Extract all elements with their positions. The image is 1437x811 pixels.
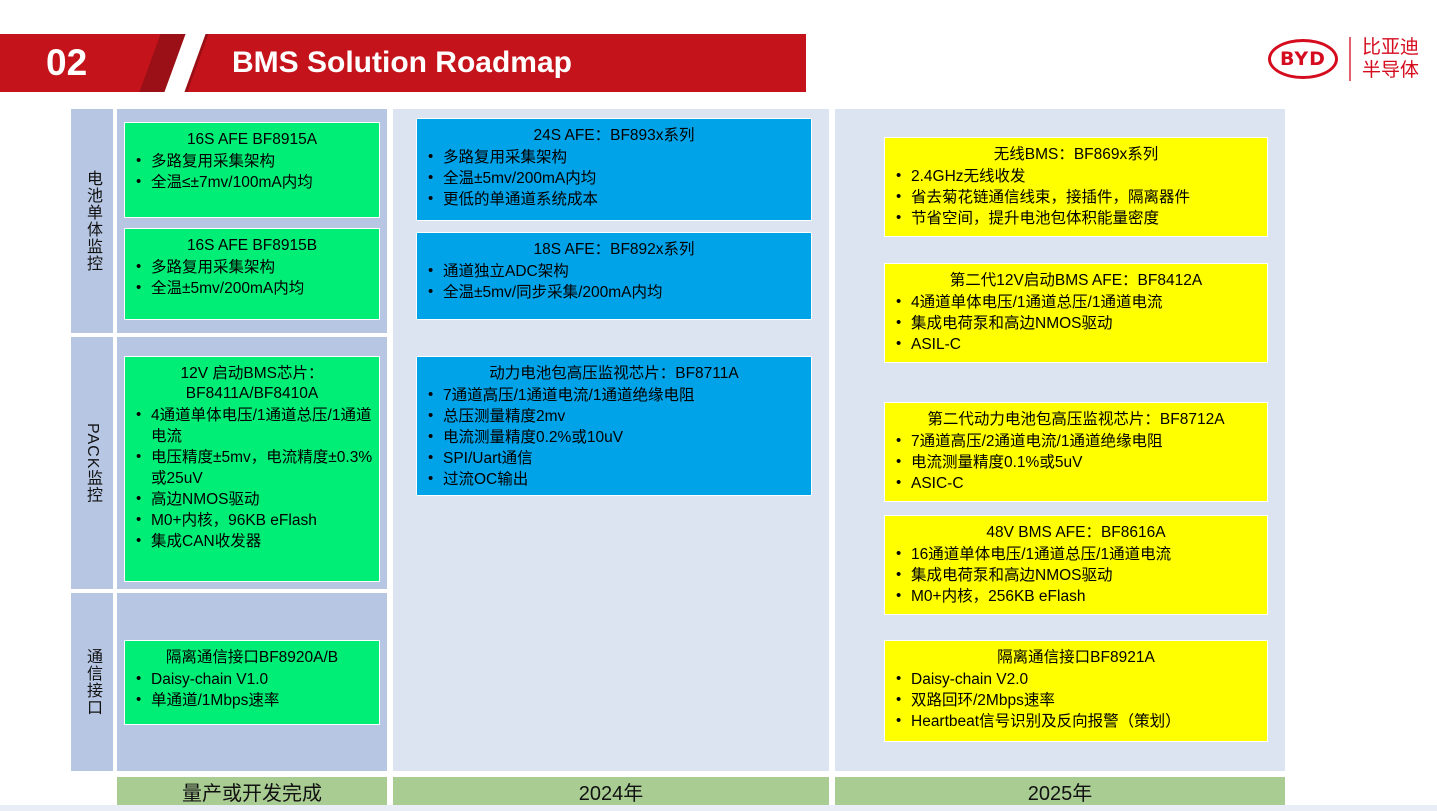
card-bf8616a-title: 48V BMS AFE：BF8616A bbox=[891, 521, 1261, 544]
list-item: ASIL-C bbox=[891, 334, 1261, 355]
card-bf892x-title: 18S AFE：BF892x系列 bbox=[423, 238, 805, 261]
brand-logo: BYD 比亚迪 半导体 bbox=[1268, 36, 1419, 82]
list-item: Daisy-chain V1.0 bbox=[131, 669, 373, 690]
card-bf893x-title: 24S AFE：BF893x系列 bbox=[423, 124, 805, 147]
list-item: 16通道单体电压/1通道总压/1通道电流 bbox=[891, 544, 1261, 565]
card-bf892x-bullets: 通道独立ADC架构 全温±5mv/同步采集/200mA内均 bbox=[423, 261, 805, 303]
list-item: 4通道单体电压/1通道总压/1通道电流 bbox=[891, 292, 1261, 313]
list-item: Daisy-chain V2.0 bbox=[891, 669, 1261, 690]
card-bf892x[interactable]: 18S AFE：BF892x系列 通道独立ADC架构 全温±5mv/同步采集/2… bbox=[416, 232, 812, 320]
list-item: 通道独立ADC架构 bbox=[423, 261, 805, 282]
list-item: 7通道高压/1通道电流/1通道绝缘电阻 bbox=[423, 385, 805, 406]
card-bf8915a[interactable]: 16S AFE BF8915A 多路复用采集架构 全温≤±7mv/100mA内均 bbox=[124, 122, 380, 218]
list-item: ASIC-C bbox=[891, 473, 1261, 494]
page-title: BMS Solution Roadmap bbox=[232, 34, 572, 92]
timeline-mass-production: 量产或开发完成 bbox=[116, 776, 388, 807]
card-bf8616a[interactable]: 48V BMS AFE：BF8616A 16通道单体电压/1通道总压/1通道电流… bbox=[884, 515, 1268, 615]
card-bf869x[interactable]: 无线BMS：BF869x系列 2.4GHz无线收发 省去菊花链通信线束，接插件，… bbox=[884, 137, 1268, 237]
list-item: M0+内核，256KB eFlash bbox=[891, 586, 1261, 607]
card-bf8915b[interactable]: 16S AFE BF8915B 多路复用采集架构 全温±5mv/200mA内均 bbox=[124, 228, 380, 320]
list-item: 省去菊花链通信线束，接插件，隔离器件 bbox=[891, 187, 1261, 208]
row-label-comm-interface-text: 通信接口 bbox=[80, 648, 104, 716]
card-bf8412a-bullets: 4通道单体电压/1通道总压/1通道电流 集成电荷泵和高边NMOS驱动 ASIL-… bbox=[891, 292, 1261, 355]
card-bf8712a-title: 第二代动力电池包高压监视芯片：BF8712A bbox=[891, 408, 1261, 431]
card-bf8920ab[interactable]: 隔离通信接口BF8920A/B Daisy-chain V1.0 单通道/1Mb… bbox=[124, 640, 380, 725]
brand-name-line1: 比亚迪 bbox=[1362, 36, 1419, 59]
timeline-2024: 2024年 bbox=[392, 776, 830, 807]
brand-divider bbox=[1349, 37, 1351, 81]
list-item: 4通道单体电压/1通道总压/1通道电流 bbox=[131, 405, 373, 447]
card-bf8921a-title: 隔离通信接口BF8921A bbox=[891, 646, 1261, 669]
list-item: 集成电荷泵和高边NMOS驱动 bbox=[891, 313, 1261, 334]
timeline-2025-label: 2025年 bbox=[1028, 777, 1093, 806]
slide-header: 02 BMS Solution Roadmap bbox=[0, 34, 806, 92]
list-item: 节省空间，提升电池包体积能量密度 bbox=[891, 208, 1261, 229]
card-bf8711a-title: 动力电池包高压监视芯片：BF8711A bbox=[423, 362, 805, 385]
card-bf8915b-bullets: 多路复用采集架构 全温±5mv/200mA内均 bbox=[131, 257, 373, 299]
card-bf8915a-bullets: 多路复用采集架构 全温≤±7mv/100mA内均 bbox=[131, 151, 373, 193]
list-item: 电流测量精度0.2%或10uV bbox=[423, 427, 805, 448]
row-label-pack-monitoring: PACK监控 bbox=[70, 336, 114, 590]
card-bf869x-bullets: 2.4GHz无线收发 省去菊花链通信线束，接插件，隔离器件 节省空间，提升电池包… bbox=[891, 166, 1261, 229]
card-bf869x-title: 无线BMS：BF869x系列 bbox=[891, 143, 1261, 166]
card-bf8411a-bf8410a[interactable]: 12V 启动BMS芯片： BF8411A/BF8410A 4通道单体电压/1通道… bbox=[124, 356, 380, 582]
list-item: 过流OC输出 bbox=[423, 469, 805, 490]
list-item: 多路复用采集架构 bbox=[423, 147, 805, 168]
list-item: 电流测量精度0.1%或5uV bbox=[891, 452, 1261, 473]
byd-oval-logo-icon: BYD bbox=[1268, 39, 1338, 79]
card-bf8711a[interactable]: 动力电池包高压监视芯片：BF8711A 7通道高压/1通道电流/1通道绝缘电阻 … bbox=[416, 356, 812, 496]
card-bf8915a-title: 16S AFE BF8915A bbox=[131, 128, 373, 151]
card-bf8920ab-bullets: Daisy-chain V1.0 单通道/1Mbps速率 bbox=[131, 669, 373, 711]
row-label-comm-interface: 通信接口 bbox=[70, 592, 114, 772]
row-label-cell-monitoring-text: 电池单体监控 bbox=[80, 170, 104, 272]
list-item: 集成电荷泵和高边NMOS驱动 bbox=[891, 565, 1261, 586]
card-bf8920ab-title: 隔离通信接口BF8920A/B bbox=[131, 646, 373, 669]
timeline-2024-label: 2024年 bbox=[579, 777, 644, 806]
brand-name-line2: 半导体 bbox=[1362, 59, 1419, 82]
list-item: 更低的单通道系统成本 bbox=[423, 189, 805, 210]
card-bf8412a[interactable]: 第二代12V启动BMS AFE：BF8412A 4通道单体电压/1通道总压/1通… bbox=[884, 263, 1268, 363]
card-bf893x[interactable]: 24S AFE：BF893x系列 多路复用采集架构 全温±5mv/200mA内均… bbox=[416, 118, 812, 221]
card-bf8921a-bullets: Daisy-chain V2.0 双路回环/2Mbps速率 Heartbeat信… bbox=[891, 669, 1261, 732]
list-item: 单通道/1Mbps速率 bbox=[131, 690, 373, 711]
list-item: 全温±5mv/同步采集/200mA内均 bbox=[423, 282, 805, 303]
card-bf8616a-bullets: 16通道单体电压/1通道总压/1通道电流 集成电荷泵和高边NMOS驱动 M0+内… bbox=[891, 544, 1261, 607]
list-item: SPI/Uart通信 bbox=[423, 448, 805, 469]
list-item: 7通道高压/2通道电流/1通道绝缘电阻 bbox=[891, 431, 1261, 452]
timeline-2025: 2025年 bbox=[834, 776, 1286, 807]
list-item: 多路复用采集架构 bbox=[131, 257, 373, 278]
slide-root: 02 BMS Solution Roadmap BYD 比亚迪 半导体 电池单体… bbox=[0, 0, 1437, 811]
list-item: 双路回环/2Mbps速率 bbox=[891, 690, 1261, 711]
card-bf893x-bullets: 多路复用采集架构 全温±5mv/200mA内均 更低的单通道系统成本 bbox=[423, 147, 805, 210]
card-bf8712a[interactable]: 第二代动力电池包高压监视芯片：BF8712A 7通道高压/2通道电流/1通道绝缘… bbox=[884, 402, 1268, 502]
list-item: 高边NMOS驱动 bbox=[131, 489, 373, 510]
section-number: 02 bbox=[46, 34, 87, 92]
card-bf8412a-title: 第二代12V启动BMS AFE：BF8412A bbox=[891, 269, 1261, 292]
list-item: 2.4GHz无线收发 bbox=[891, 166, 1261, 187]
list-item: M0+内核，96KB eFlash bbox=[131, 510, 373, 531]
row-label-pack-monitoring-text: PACK监控 bbox=[80, 423, 104, 503]
card-bf8411a-bf8410a-bullets: 4通道单体电压/1通道总压/1通道电流 电压精度±5mv，电流精度±0.3%或2… bbox=[131, 405, 373, 552]
card-bf8712a-bullets: 7通道高压/2通道电流/1通道绝缘电阻 电流测量精度0.1%或5uV ASIC-… bbox=[891, 431, 1261, 494]
list-item: 全温≤±7mv/100mA内均 bbox=[131, 172, 373, 193]
byd-logo-text: BYD bbox=[1280, 48, 1326, 70]
list-item: 全温±5mv/200mA内均 bbox=[131, 278, 373, 299]
list-item: 多路复用采集架构 bbox=[131, 151, 373, 172]
list-item: 集成CAN收发器 bbox=[131, 531, 373, 552]
brand-name: 比亚迪 半导体 bbox=[1362, 36, 1419, 82]
list-item: 电压精度±5mv，电流精度±0.3%或25uV bbox=[131, 447, 373, 489]
list-item: Heartbeat信号识别及反向报警（策划） bbox=[891, 711, 1261, 732]
list-item: 总压测量精度2mv bbox=[423, 406, 805, 427]
bottom-strip bbox=[0, 805, 1437, 811]
timeline-mass-production-label: 量产或开发完成 bbox=[182, 777, 322, 806]
card-bf8711a-bullets: 7通道高压/1通道电流/1通道绝缘电阻 总压测量精度2mv 电流测量精度0.2%… bbox=[423, 385, 805, 490]
card-bf8411a-bf8410a-title: 12V 启动BMS芯片： BF8411A/BF8410A bbox=[131, 362, 373, 405]
list-item: 全温±5mv/200mA内均 bbox=[423, 168, 805, 189]
row-label-cell-monitoring: 电池单体监控 bbox=[70, 108, 114, 334]
card-bf8915b-title: 16S AFE BF8915B bbox=[131, 234, 373, 257]
card-bf8921a[interactable]: 隔离通信接口BF8921A Daisy-chain V2.0 双路回环/2Mbp… bbox=[884, 640, 1268, 742]
